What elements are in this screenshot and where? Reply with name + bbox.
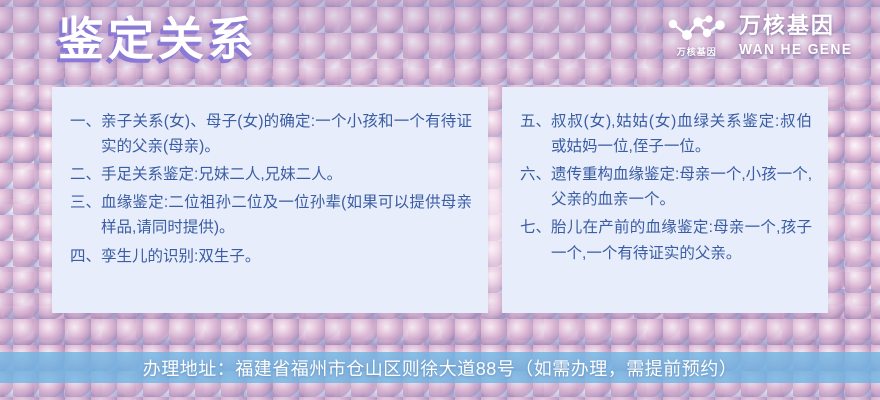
list-item: 一、 亲子关系(女)、母子(女)的确定:一个小孩和一个有待证实的父亲(母亲)。 xyxy=(70,109,472,159)
list-item: 六、 遗传重构血缘鉴定:母亲一个,小孩一个,父亲的血亲一个。 xyxy=(520,162,812,212)
list-item-text: 孪生儿的识别:双生子。 xyxy=(101,244,472,269)
panel-right-list: 五、 叔叔(女),姑姑(女)血绿关系鉴定:叔伯或姑妈一位,侄子一位。 六、 遗传… xyxy=(502,87,828,266)
brand-mark-label: 万核基因 xyxy=(677,45,717,58)
list-item: 四、 孪生儿的识别:双生子。 xyxy=(70,244,472,269)
list-item-number: 五、 xyxy=(520,109,551,134)
list-item-number: 二、 xyxy=(70,162,101,187)
page-title: 鉴定关系 xyxy=(58,14,258,65)
list-item-number: 一、 xyxy=(70,109,101,134)
list-item-number: 四、 xyxy=(70,244,101,269)
list-item-text: 亲子关系(女)、母子(女)的确定:一个小孩和一个有待证实的父亲(母亲)。 xyxy=(101,109,472,159)
brand-wordmark: 万核基因 WAN HE GENE xyxy=(739,15,862,57)
list-item-number: 六、 xyxy=(520,162,551,187)
list-item: 五、 叔叔(女),姑姑(女)血绿关系鉴定:叔伯或姑妈一位,侄子一位。 xyxy=(520,109,812,159)
list-item-text: 血缘鉴定:二位祖孙二位及一位孙辈(如果可以提供母亲样品,请同时提供)。 xyxy=(101,190,472,240)
list-item-text: 叔叔(女),姑姑(女)血绿关系鉴定:叔伯或姑妈一位,侄子一位。 xyxy=(551,109,812,159)
list-item-text: 遗传重构血缘鉴定:母亲一个,小孩一个,父亲的血亲一个。 xyxy=(551,162,812,212)
panel-right: 五、 叔叔(女),姑姑(女)血绿关系鉴定:叔伯或姑妈一位,侄子一位。 六、 遗传… xyxy=(502,87,828,313)
list-item-text: 胎儿在产前的血缘鉴定:母亲一个,孩子一个,一个有待证实的父亲。 xyxy=(551,215,812,265)
poster-root: 鉴定关系 xyxy=(0,0,880,400)
brand-logo: 万核基因 万核基因 WAN HE GENE xyxy=(665,14,862,58)
brand-name-cn: 万核基因 xyxy=(739,15,835,37)
panel-left: 一、 亲子关系(女)、母子(女)的确定:一个小孩和一个有待证实的父亲(母亲)。 … xyxy=(52,87,488,313)
list-item-number: 七、 xyxy=(520,215,551,240)
panel-left-list: 一、 亲子关系(女)、母子(女)的确定:一个小孩和一个有待证实的父亲(母亲)。 … xyxy=(52,87,488,269)
brand-mark: 万核基因 xyxy=(665,14,729,58)
molecule-icon xyxy=(665,14,729,44)
list-item: 二、 手足关系鉴定:兄妹二人,兄妹二人。 xyxy=(70,162,472,187)
footer-address: 办理地址：福建省福州市仓山区则徐大道88号（如需办理，需提前预约） xyxy=(0,352,880,383)
list-item: 七、 胎儿在产前的血缘鉴定:母亲一个,孩子一个,一个有待证实的父亲。 xyxy=(520,215,812,265)
list-item-text: 手足关系鉴定:兄妹二人,兄妹二人。 xyxy=(101,162,472,187)
list-item: 三、 血缘鉴定:二位祖孙二位及一位孙辈(如果可以提供母亲样品,请同时提供)。 xyxy=(70,190,472,240)
brand-name-en: WAN HE GENE xyxy=(739,42,852,57)
list-item-number: 三、 xyxy=(70,190,101,215)
